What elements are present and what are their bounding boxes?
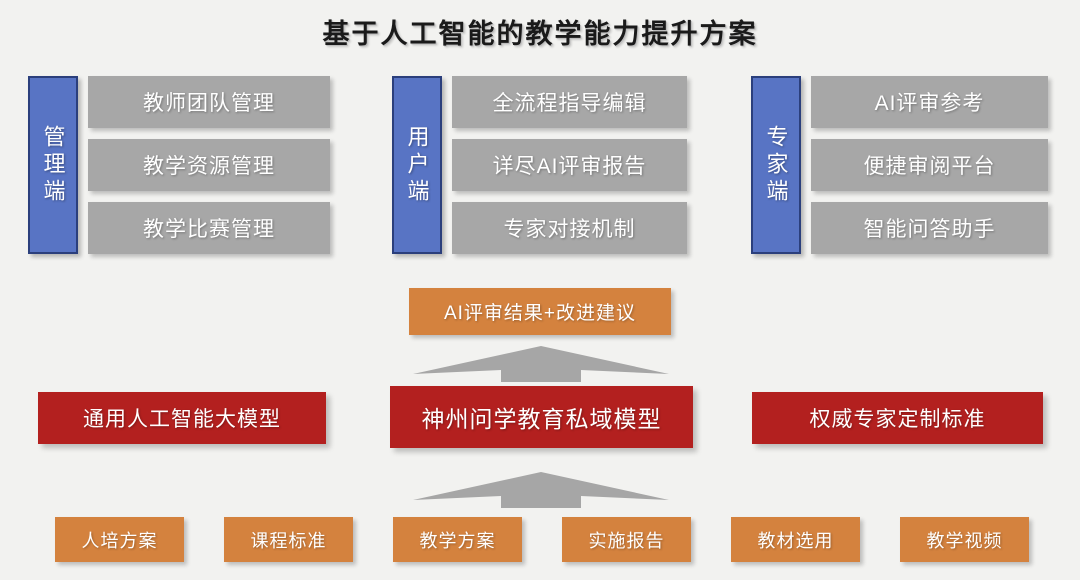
group-item[interactable]: 便捷审阅平台	[811, 139, 1048, 191]
group-tab-management[interactable]: 管理端	[28, 76, 78, 254]
group-item[interactable]: 教学资源管理	[88, 139, 330, 191]
source-box[interactable]: 教材选用	[731, 517, 860, 562]
ai-result-box[interactable]: AI评审结果+改进建议	[409, 288, 671, 335]
source-box[interactable]: 实施报告	[562, 517, 691, 562]
group-tab-label: 用户端	[405, 125, 428, 206]
model-box-primary[interactable]: 神州问学教育私域模型	[390, 386, 693, 448]
up-arrow-icon	[413, 344, 669, 382]
diagram-canvas: 基于人工智能的教学能力提升方案 管理端 教师团队管理 教学资源管理 教学比赛管理…	[0, 0, 1080, 580]
source-box[interactable]: 教学视频	[900, 517, 1029, 562]
source-box[interactable]: 课程标准	[224, 517, 353, 562]
model-box[interactable]: 权威专家定制标准	[752, 392, 1043, 444]
model-box[interactable]: 通用人工智能大模型	[38, 392, 326, 444]
source-box[interactable]: 人培方案	[55, 517, 184, 562]
group-item[interactable]: 详尽AI评审报告	[452, 139, 687, 191]
group-tab-user[interactable]: 用户端	[392, 76, 442, 254]
group-items-user: 全流程指导编辑 详尽AI评审报告 专家对接机制	[452, 76, 687, 254]
group-items-expert: AI评审参考 便捷审阅平台 智能问答助手	[811, 76, 1048, 254]
group-tab-label: 管理端	[41, 125, 64, 206]
source-box[interactable]: 教学方案	[393, 517, 522, 562]
group-items-management: 教师团队管理 教学资源管理 教学比赛管理	[88, 76, 330, 254]
group-user: 用户端 全流程指导编辑 详尽AI评审报告 专家对接机制	[392, 76, 687, 254]
group-management: 管理端 教师团队管理 教学资源管理 教学比赛管理	[28, 76, 330, 254]
group-expert: 专家端 AI评审参考 便捷审阅平台 智能问答助手	[751, 76, 1048, 254]
group-item[interactable]: 教学比赛管理	[88, 202, 330, 254]
group-item[interactable]: 智能问答助手	[811, 202, 1048, 254]
group-item[interactable]: 教师团队管理	[88, 76, 330, 128]
group-item[interactable]: 专家对接机制	[452, 202, 687, 254]
group-tab-expert[interactable]: 专家端	[751, 76, 801, 254]
page-title: 基于人工智能的教学能力提升方案	[0, 12, 1080, 51]
group-tab-label: 专家端	[764, 125, 787, 206]
up-arrow-icon	[413, 470, 669, 508]
group-item[interactable]: 全流程指导编辑	[452, 76, 687, 128]
group-item[interactable]: AI评审参考	[811, 76, 1048, 128]
